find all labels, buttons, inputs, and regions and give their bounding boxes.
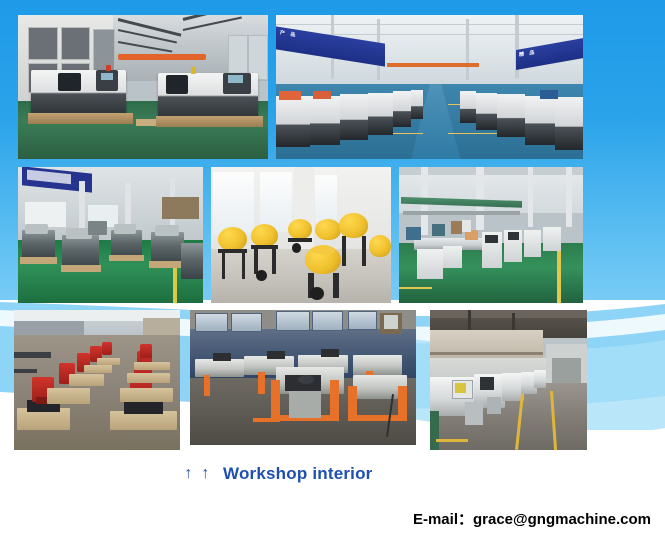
photo-assembly-line-green-canopy bbox=[399, 167, 583, 303]
photo-yellow-concrete-mixers bbox=[211, 167, 391, 303]
up-arrow-icon-2: ↑ bbox=[200, 466, 211, 482]
photo-factory-hall-blue-banners: 产 品 精 品 bbox=[276, 15, 583, 159]
photo-cnc-shop-aisle bbox=[430, 310, 587, 450]
caption-text: Workshop interior bbox=[223, 464, 373, 484]
photo-cnc-lathes-on-pallets bbox=[18, 15, 268, 159]
up-arrow-icon-1: ↑ bbox=[183, 466, 194, 482]
slide-page: 产 品 精 品 bbox=[0, 0, 665, 537]
caption-workshop-interior: ↑ ↑ Workshop interior bbox=[183, 464, 373, 484]
photo-orange-grey-machines bbox=[190, 310, 416, 445]
photo-red-machines-pallets bbox=[14, 310, 180, 450]
photo-grey-machines-green-floor bbox=[18, 167, 203, 303]
contact-email[interactable]: E-mail：grace@gngmachine.com bbox=[413, 508, 651, 529]
